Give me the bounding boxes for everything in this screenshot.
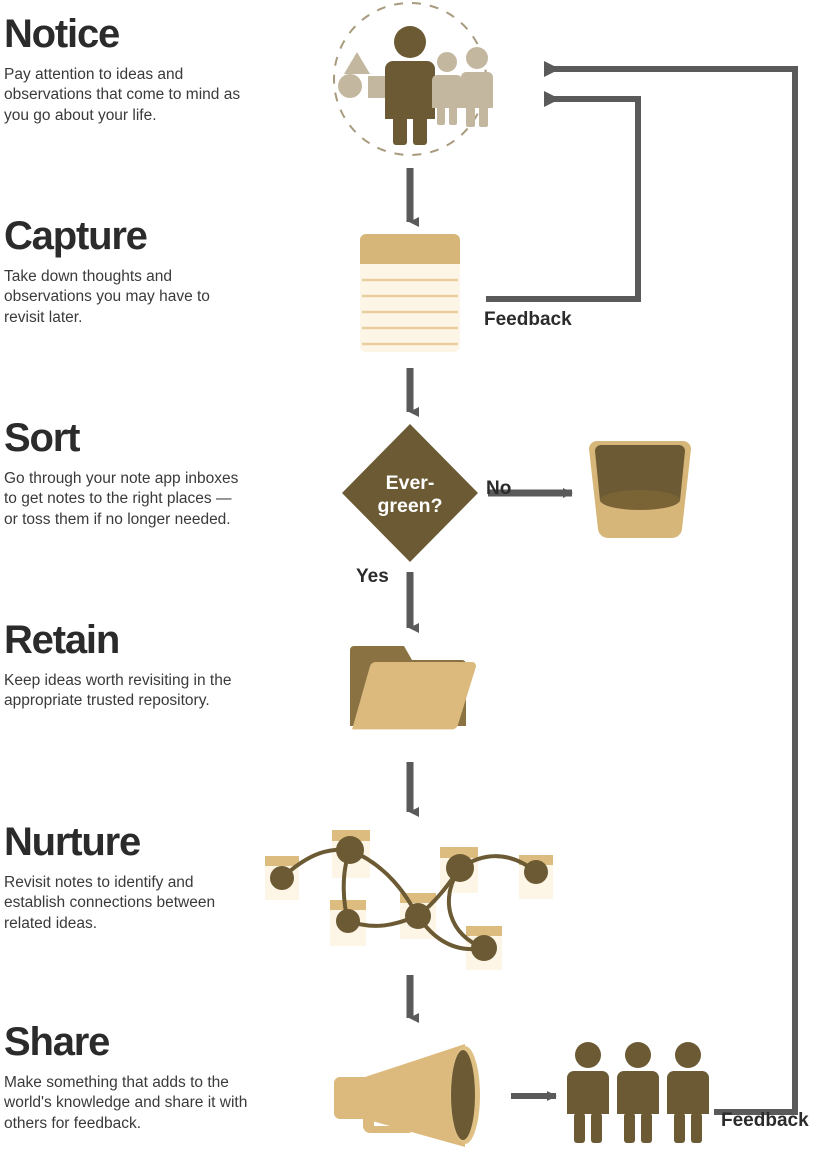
primary-person-icon xyxy=(385,26,435,145)
triangle-shape-icon xyxy=(344,52,370,74)
audience-person-1 xyxy=(567,1042,609,1143)
feedback-loop-share xyxy=(545,69,795,1112)
decision-label-line2: green? xyxy=(377,495,442,517)
audience-person-3 xyxy=(667,1042,709,1143)
audience-icon xyxy=(567,1042,709,1143)
note-network-icon xyxy=(265,830,553,970)
feedback-label-upper: Feedback xyxy=(484,309,572,331)
feedback-loop-capture xyxy=(486,99,638,299)
notepad-icon xyxy=(360,234,460,352)
people-group-icon xyxy=(334,3,493,155)
decision-yes-label: Yes xyxy=(356,566,389,588)
decision-label-line1: Ever- xyxy=(386,472,435,494)
folder-icon xyxy=(350,646,476,729)
decision-no-label: No xyxy=(486,478,511,500)
trash-bin-icon xyxy=(589,441,691,538)
circle-shape-icon xyxy=(338,74,362,98)
audience-person-2 xyxy=(617,1042,659,1143)
decision-diamond-icon: Ever- green? xyxy=(342,424,478,562)
secondary-person-icon-1 xyxy=(432,52,462,125)
infographic-page: Notice Pay attention to ideas and observ… xyxy=(0,0,825,1165)
megaphone-icon xyxy=(334,1044,480,1147)
process-flow-diagram: Ever- green? xyxy=(0,0,825,1165)
feedback-label-lower: Feedback xyxy=(721,1110,809,1132)
